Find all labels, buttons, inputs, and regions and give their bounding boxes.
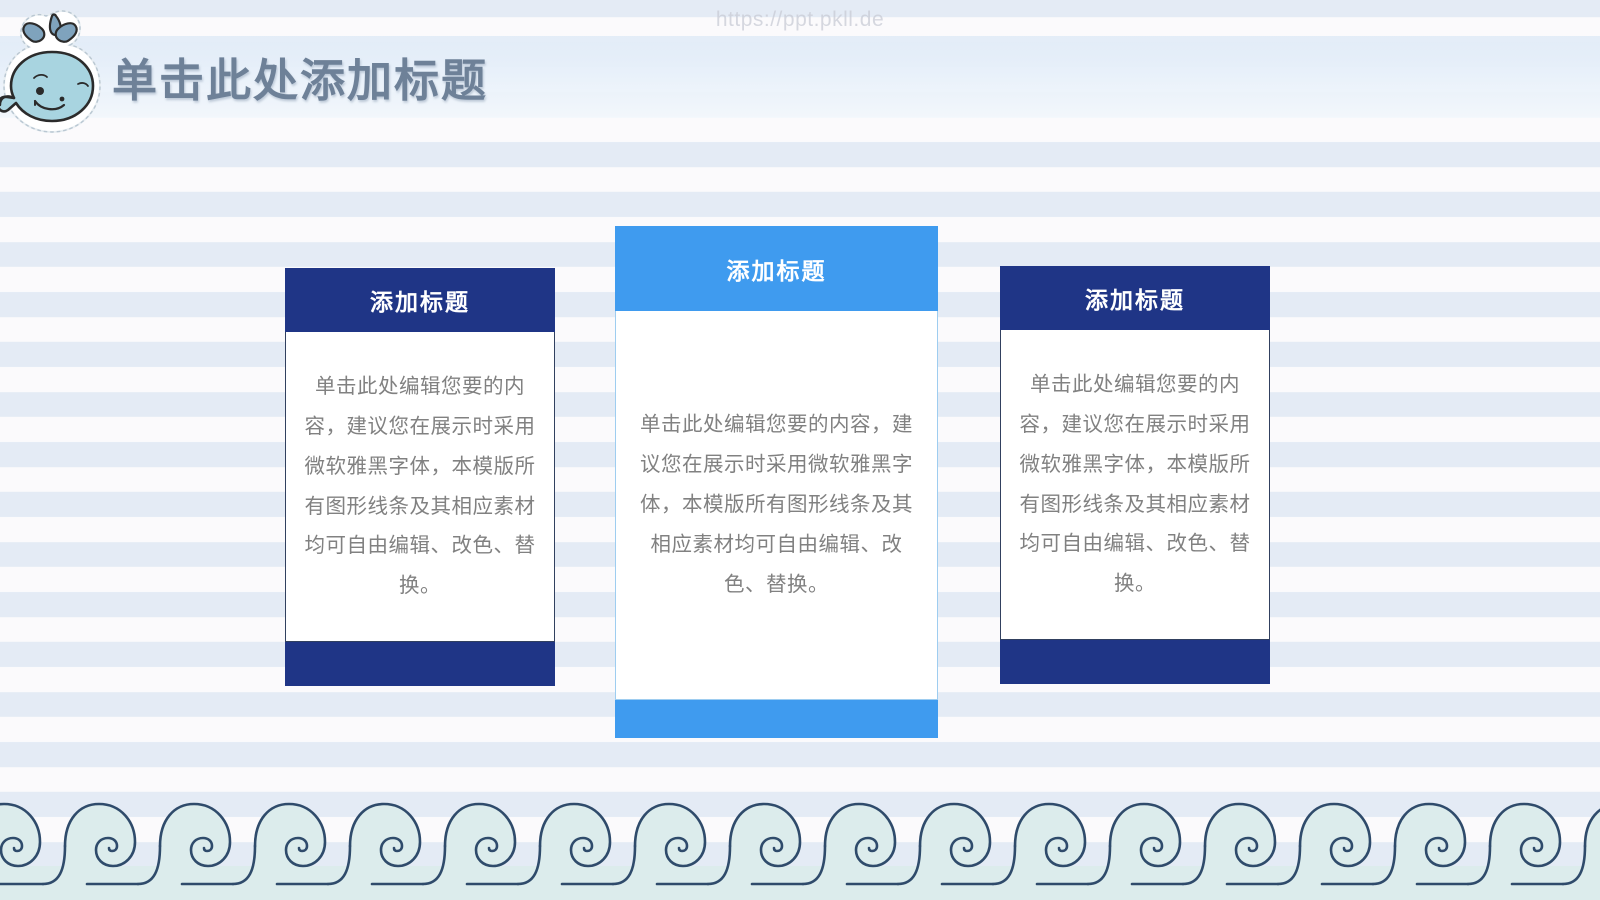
card-text-right: 单击此处编辑您要的内容，建议您在展示时采用微软雅黑字体，本模版所有图形线条及其相… [1015, 365, 1255, 605]
card-body-left: 单击此处编辑您要的内容，建议您在展示时采用微软雅黑字体，本模版所有图形线条及其相… [285, 332, 555, 642]
card-text-center: 单击此处编辑您要的内容，建议您在展示时采用微软雅黑字体，本模版所有图形线条及其相… [630, 405, 923, 605]
page-title: 单击此处添加标题 [112, 44, 488, 109]
card-header-center: 添加标题 [615, 226, 938, 311]
wave-spiral-border-icon [0, 780, 1600, 900]
card-body-right: 单击此处编辑您要的内容，建议您在展示时采用微软雅黑字体，本模版所有图形线条及其相… [1000, 330, 1270, 640]
whale-mascot-icon [0, 6, 106, 146]
card-footer-left [285, 642, 555, 686]
card-title-left: 添加标题 [370, 283, 470, 317]
card-header-right: 添加标题 [1000, 266, 1270, 330]
card-title-center: 添加标题 [727, 252, 827, 286]
card-body-center: 单击此处编辑您要的内容，建议您在展示时采用微软雅黑字体，本模版所有图形线条及其相… [615, 311, 938, 700]
card-text-left: 单击此处编辑您要的内容，建议您在展示时采用微软雅黑字体，本模版所有图形线条及其相… [300, 367, 540, 607]
card-footer-center [615, 700, 938, 738]
card-footer-right [1000, 640, 1270, 684]
slide-canvas: https://ppt.pkll.de [0, 0, 1600, 900]
slide-header: 单击此处添加标题 [0, 0, 1600, 150]
card-title-right: 添加标题 [1085, 281, 1185, 315]
card-header-left: 添加标题 [285, 268, 555, 332]
